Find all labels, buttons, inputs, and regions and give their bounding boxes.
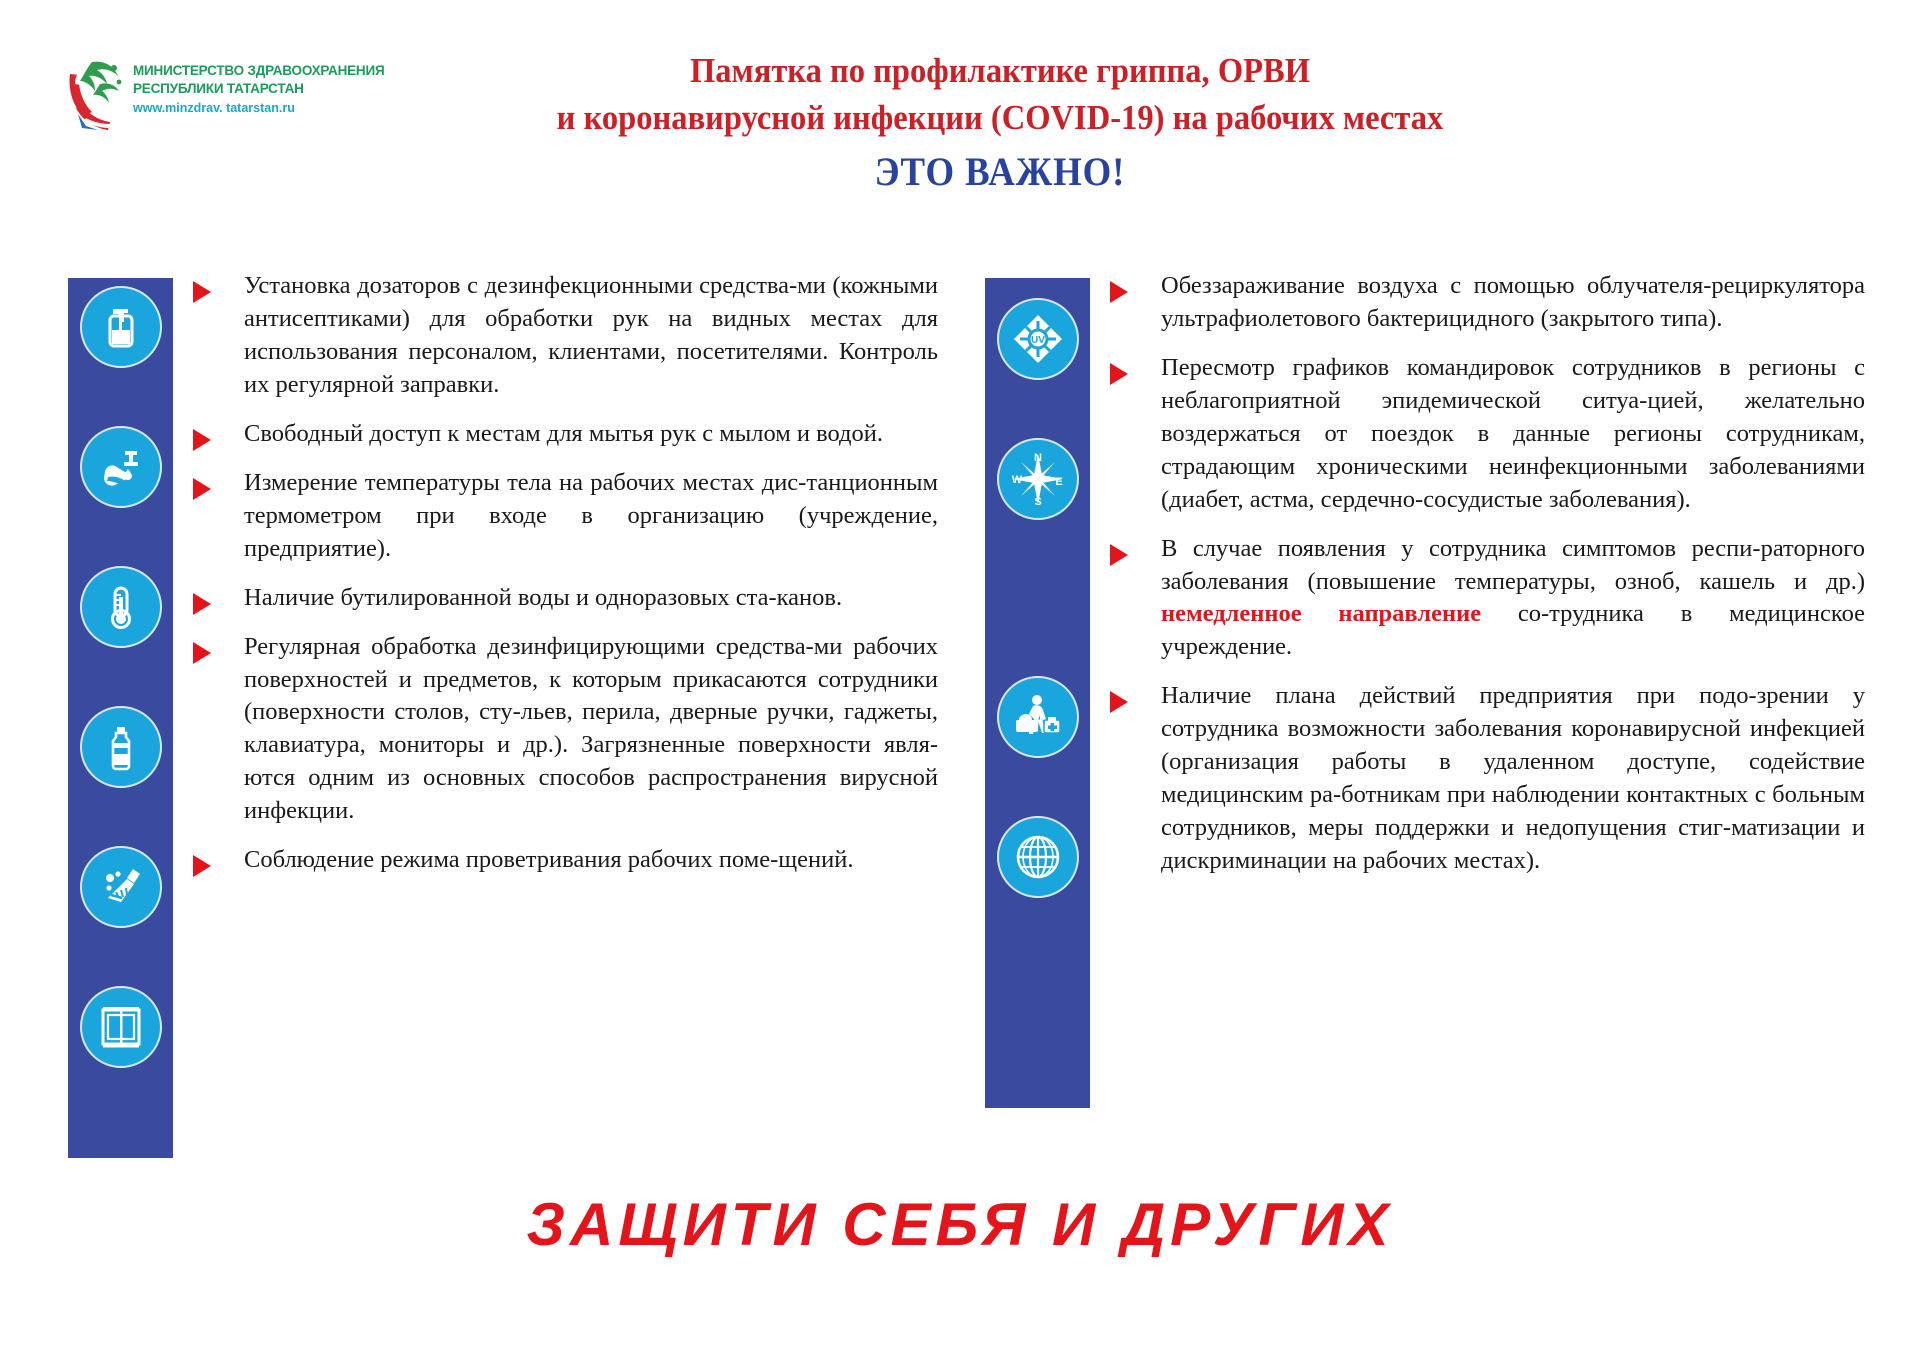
list-item: Установка дозаторов с дезинфекционными с… [193, 270, 938, 402]
list-item: Пересмотр графиков командировок сотрудни… [1110, 352, 1865, 517]
page-title: Памятка по профилактике гриппа, ОРВИ и к… [380, 48, 1620, 194]
ministry-website-url[interactable]: www.minzdrav. tatarstan.ru [133, 101, 384, 115]
list-item: Наличие бутилированной воды и одноразовы… [193, 582, 938, 615]
globe-grid-icon [997, 816, 1079, 898]
list-item-text: Регулярная обработка дезинфицирующими ср… [244, 631, 938, 829]
right-items-list: Обеззараживание воздуха с помощью облуча… [1110, 270, 1865, 894]
list-item-text-highlight: немедленное направление [1161, 600, 1481, 627]
handwashing-faucet-icon [80, 426, 162, 508]
left-icon-bar [68, 278, 173, 1158]
list-item: Соблюдение режима проветривания рабочих … [193, 844, 938, 877]
sanitizer-dispenser-icon [80, 286, 162, 368]
footer-slogan: ЗАЩИТИ СЕБЯ И ДРУГИХ [0, 1190, 1920, 1259]
list-item-text: Наличие бутилированной воды и одноразовы… [244, 582, 938, 615]
triangle-bullet-icon [193, 478, 233, 500]
poster-header: МИНИСТЕРСТВО ЗДРАВООХРАНЕНИЯ РЕСПУБЛИКИ … [0, 0, 1920, 245]
triangle-bullet-icon [1110, 363, 1150, 385]
list-item: Свободный доступ к местам для мытья рук … [193, 418, 938, 451]
triangle-bullet-icon [1110, 281, 1150, 303]
list-item-text: Свободный доступ к местам для мытья рук … [244, 418, 938, 451]
compass-label-east: E [1055, 476, 1062, 488]
triangle-bullet-icon [193, 281, 233, 303]
list-item-text: Соблюдение режима проветривания рабочих … [244, 844, 938, 877]
list-item: Наличие плана действий предприятия при п… [1110, 680, 1865, 878]
compass-label-north: N [1034, 452, 1042, 464]
ministry-logo-text: МИНИСТЕРСТВО ЗДРАВООХРАНЕНИЯ РЕСПУБЛИКИ … [133, 52, 384, 115]
title-line-1: Памятка по профилактике гриппа, ОРВИ [423, 48, 1576, 95]
triangle-bullet-icon [1110, 544, 1150, 566]
content-columns: Установка дозаторов с дезинфекционными с… [0, 270, 1920, 1165]
tatarstan-ministry-of-health-emblem-icon [62, 54, 124, 132]
ministry-logo: МИНИСТЕРСТВО ЗДРАВООХРАНЕНИЯ РЕСПУБЛИКИ … [62, 52, 392, 138]
thermometer-icon [80, 566, 162, 648]
triangle-bullet-icon [1110, 691, 1150, 713]
compass-label-west: W [1011, 474, 1022, 486]
uv-lamp-label: UV [1031, 335, 1045, 346]
list-item-text-highlighted: В случае появления у сотрудника симптомо… [1161, 533, 1865, 665]
medical-travel-first-aid-icon [997, 676, 1079, 758]
list-item: Измерение температуры тела на рабочих ме… [193, 467, 938, 566]
list-item-text: Измерение температуры тела на рабочих ме… [244, 467, 938, 566]
right-icon-bar: UV [985, 278, 1090, 1108]
left-items-list: Установка дозаторов с дезинфекционными с… [193, 270, 938, 893]
ministry-name-line1: МИНИСТЕРСТВО ЗДРАВООХРАНЕНИЯ [133, 62, 384, 80]
triangle-bullet-icon [193, 593, 233, 615]
uv-lamp-icon: UV [997, 298, 1079, 380]
list-item-text: Пересмотр графиков командировок сотрудни… [1161, 352, 1865, 517]
title-emphasis: ЭТО ВАЖНО! [430, 150, 1571, 194]
list-item-text: Установка дозаторов с дезинфекционными с… [244, 270, 938, 402]
triangle-bullet-icon [193, 855, 233, 877]
triangle-bullet-icon [193, 429, 233, 451]
title-line-2: и коронавирусной инфекции (COVID-19) на … [423, 95, 1576, 142]
water-bottle-icon [80, 706, 162, 788]
list-item-text-prefix: В случае появления у сотрудника симптомо… [1161, 535, 1865, 595]
ministry-name-line2: РЕСПУБЛИКИ ТАТАРСТАН [133, 80, 384, 98]
list-item: Обеззараживание воздуха с помощью облуча… [1110, 270, 1865, 336]
list-item: В случае появления у сотрудника симптомо… [1110, 533, 1865, 665]
list-item: Регулярная обработка дезинфицирующими ср… [193, 631, 938, 829]
compass-rose-icon: N W E S [997, 438, 1079, 520]
triangle-bullet-icon [193, 642, 233, 664]
poster-root: МИНИСТЕРСТВО ЗДРАВООХРАНЕНИЯ РЕСПУБЛИКИ … [0, 0, 1920, 1357]
open-window-icon [80, 986, 162, 1068]
list-item-text: Обеззараживание воздуха с помощью облуча… [1161, 270, 1865, 336]
compass-label-south: S [1034, 496, 1041, 507]
broom-cleaning-icon [80, 846, 162, 928]
list-item-text: Наличие плана действий предприятия при п… [1161, 680, 1865, 878]
